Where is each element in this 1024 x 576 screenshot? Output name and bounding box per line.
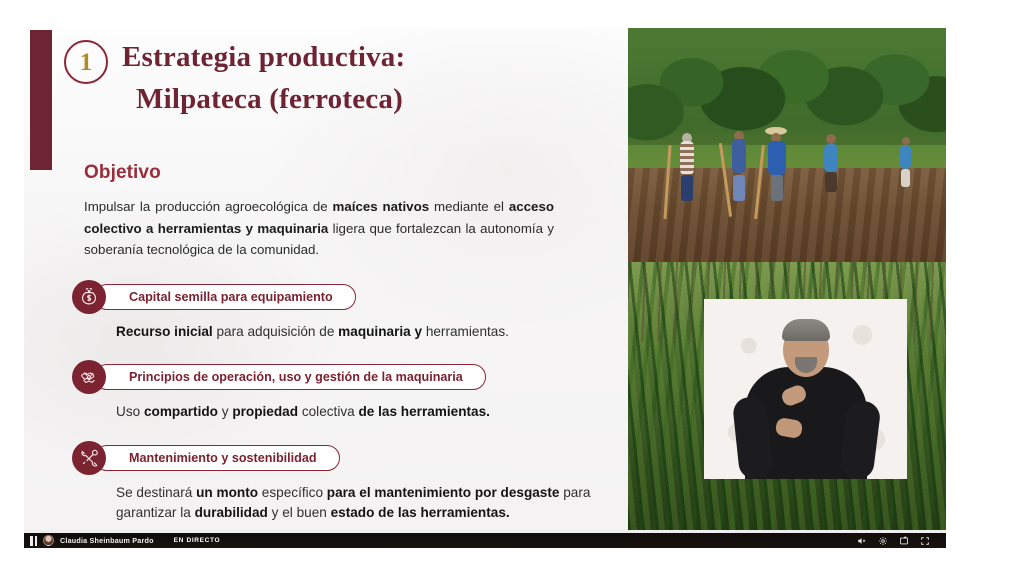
volume-muted-icon[interactable] xyxy=(857,536,867,546)
theater-mode-icon[interactable] xyxy=(899,536,909,546)
bullet-pill-label: Mantenimiento y sostenibilidad xyxy=(94,445,340,471)
avatar xyxy=(43,535,54,546)
slide-right-column xyxy=(628,28,946,530)
bullet-body: Se destinará un monto específico para el… xyxy=(116,483,628,524)
presenter-name: Claudia Sheinbaum Pardo xyxy=(60,536,154,545)
video-player[interactable]: 1 Estrategia productiva: Milpateca (ferr… xyxy=(24,28,946,548)
list-item: Principios de operación, uso y gestión d… xyxy=(72,360,628,422)
list-item: Mantenimiento y sostenibilidad Se destin… xyxy=(72,441,628,524)
sign-language-interpreter-overlay xyxy=(704,299,907,479)
slide-title-line2: Milpateca (ferroteca) xyxy=(136,78,405,120)
bullet-pill-label: Principios de operación, uso y gestión d… xyxy=(94,364,486,390)
list-item: Capital semilla para equipamiento Recurs… xyxy=(72,280,628,342)
fullscreen-icon[interactable] xyxy=(920,536,930,546)
bullet-list: Capital semilla para equipamiento Recurs… xyxy=(72,280,628,530)
control-bar[interactable]: Claudia Sheinbaum Pardo EN DIRECTO xyxy=(24,533,946,548)
pause-button[interactable] xyxy=(30,536,37,546)
wrench-maintenance-icon xyxy=(72,441,106,475)
slide-number-badge: 1 xyxy=(64,40,108,84)
objective-heading: Objetivo xyxy=(84,162,161,184)
cornfield-photo xyxy=(628,262,946,530)
settings-gear-icon[interactable] xyxy=(878,536,888,546)
maroon-accent-bar xyxy=(30,30,52,170)
objective-body: Impulsar la producción agroecológica de … xyxy=(84,196,554,261)
bullet-body: Recurso inicial para adquisición de maqu… xyxy=(116,322,628,342)
bullet-pill-label: Capital semilla para equipamiento xyxy=(94,284,356,310)
money-bag-seed-icon xyxy=(72,280,106,314)
player-controls[interactable]: Claudia Sheinbaum Pardo EN DIRECTO xyxy=(24,530,946,548)
slide-left-panel: 1 Estrategia productiva: Milpateca (ferr… xyxy=(24,28,628,530)
presentation-slide: 1 Estrategia productiva: Milpateca (ferr… xyxy=(24,28,946,530)
live-badge: EN DIRECTO xyxy=(174,537,221,544)
bullet-body: Uso compartido y propiedad colectiva de … xyxy=(116,402,628,422)
page-root: 1 Estrategia productiva: Milpateca (ferr… xyxy=(0,0,1024,576)
farmers-planting-field-photo xyxy=(628,28,946,262)
slide-title-block: 1 Estrategia productiva: Milpateca (ferr… xyxy=(64,36,624,120)
slide-title-line1: Estrategia productiva: xyxy=(122,36,405,78)
interlocking-hands-icon xyxy=(72,360,106,394)
